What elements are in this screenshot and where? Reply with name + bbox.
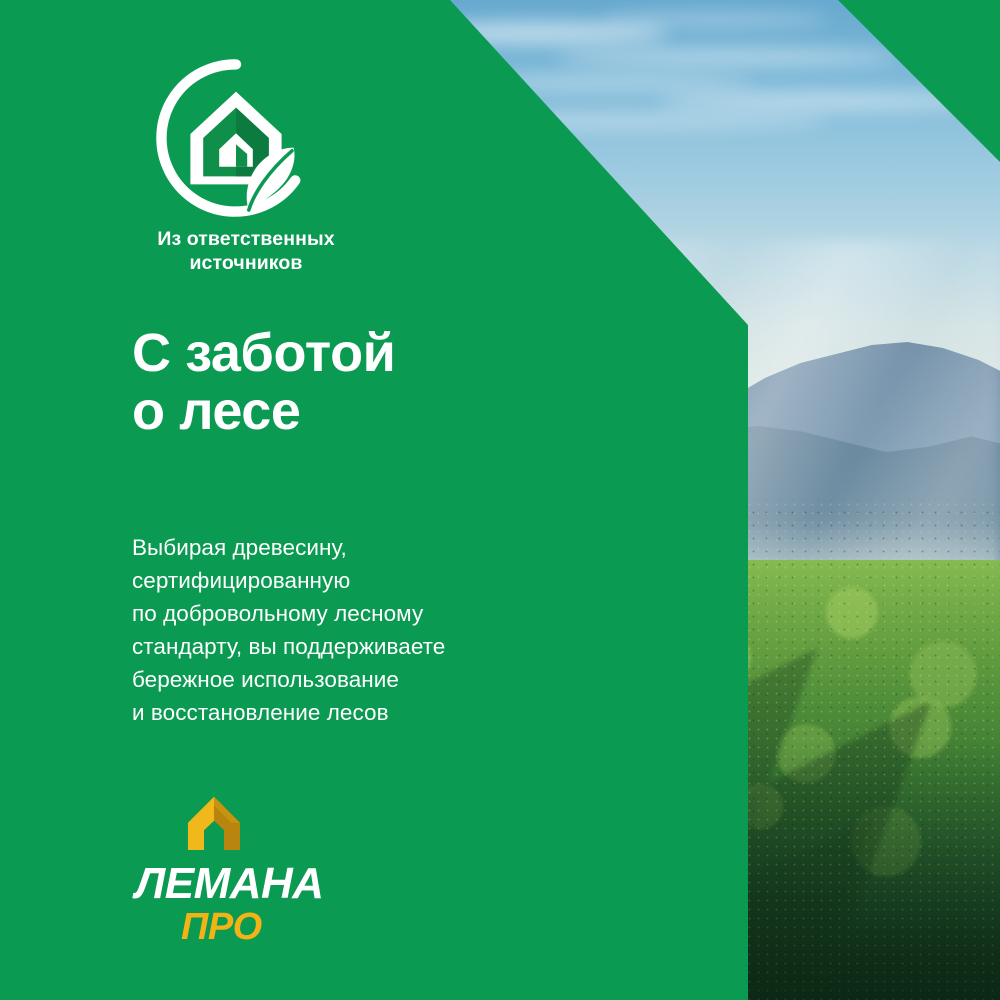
body-copy: Выбирая древесину, сертифицированную по … bbox=[132, 531, 445, 729]
headline: С заботой о лесе bbox=[132, 325, 395, 441]
certification-caption: Из ответственных источников bbox=[131, 228, 361, 276]
brand-name: ЛЕМАНА bbox=[135, 862, 335, 906]
promo-banner: Из ответственных источников С заботой о … bbox=[0, 0, 1000, 1000]
cert-caption-line-2: источников bbox=[131, 252, 361, 276]
responsible-sources-mark-icon bbox=[156, 58, 316, 218]
body-line-2: сертифицированную bbox=[132, 564, 445, 597]
body-line-4: стандарту, вы поддерживаете bbox=[132, 630, 445, 663]
body-line-1: Выбирая древесину, bbox=[132, 531, 445, 564]
certification-logo: Из ответственных источников bbox=[131, 58, 381, 276]
cert-caption-line-1: Из ответственных bbox=[131, 228, 361, 252]
body-line-5: бережное использование bbox=[132, 663, 445, 696]
lemana-house-icon bbox=[183, 793, 245, 855]
body-line-6: и восстановление лесов bbox=[132, 696, 445, 729]
body-line-3: по добровольному лесному bbox=[132, 597, 445, 630]
headline-line-1: С заботой bbox=[132, 325, 395, 383]
headline-line-2: о лесе bbox=[132, 383, 395, 441]
brand-logo: ЛЕМАНА ПРО bbox=[135, 793, 335, 946]
brand-sub: ПРО bbox=[181, 908, 335, 946]
